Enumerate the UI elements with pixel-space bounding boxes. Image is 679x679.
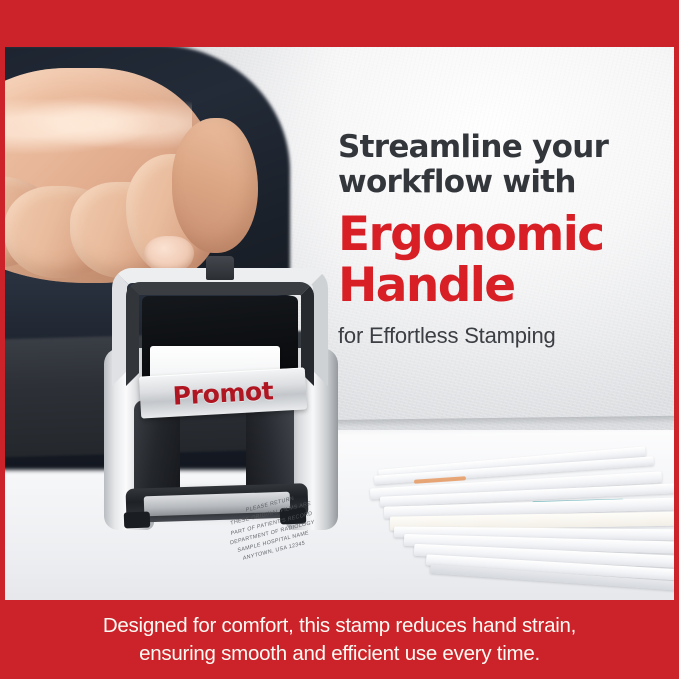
stamp-foot-left <box>124 512 151 529</box>
headline-emphasis-line-1: Ergonomic <box>338 207 604 262</box>
product-marketing-banner: Promot PLEASE RETURN THESE ORIGINAL FILM… <box>0 0 679 679</box>
bottom-red-banner: Designed for comfort, this stamp reduces… <box>0 600 679 679</box>
headline-emphasis-line-2: Handle <box>338 258 515 313</box>
knuckles <box>0 88 192 158</box>
footer-line-1: Designed for comfort, this stamp reduces… <box>103 612 576 640</box>
stamp-top-clip <box>206 256 234 280</box>
headline-block: Streamline your workflow with Ergonomic … <box>338 130 658 350</box>
left-red-edge <box>0 0 5 679</box>
headline-primary: Streamline your workflow with <box>338 130 658 200</box>
headline-subtitle: for Effortless Stamping <box>338 323 658 349</box>
brand-logo-text: Promot <box>172 378 274 409</box>
footer-line-2: ensuring smooth and efficient use every … <box>139 640 540 668</box>
headline-line-2: workflow with <box>338 164 576 200</box>
top-red-bar <box>0 0 679 47</box>
thumb-base <box>172 118 258 253</box>
document-stack <box>360 440 679 600</box>
right-red-edge <box>674 0 679 679</box>
headline-emphasis: Ergonomic Handle <box>338 209 658 311</box>
headline-line-1: Streamline your <box>338 129 608 165</box>
